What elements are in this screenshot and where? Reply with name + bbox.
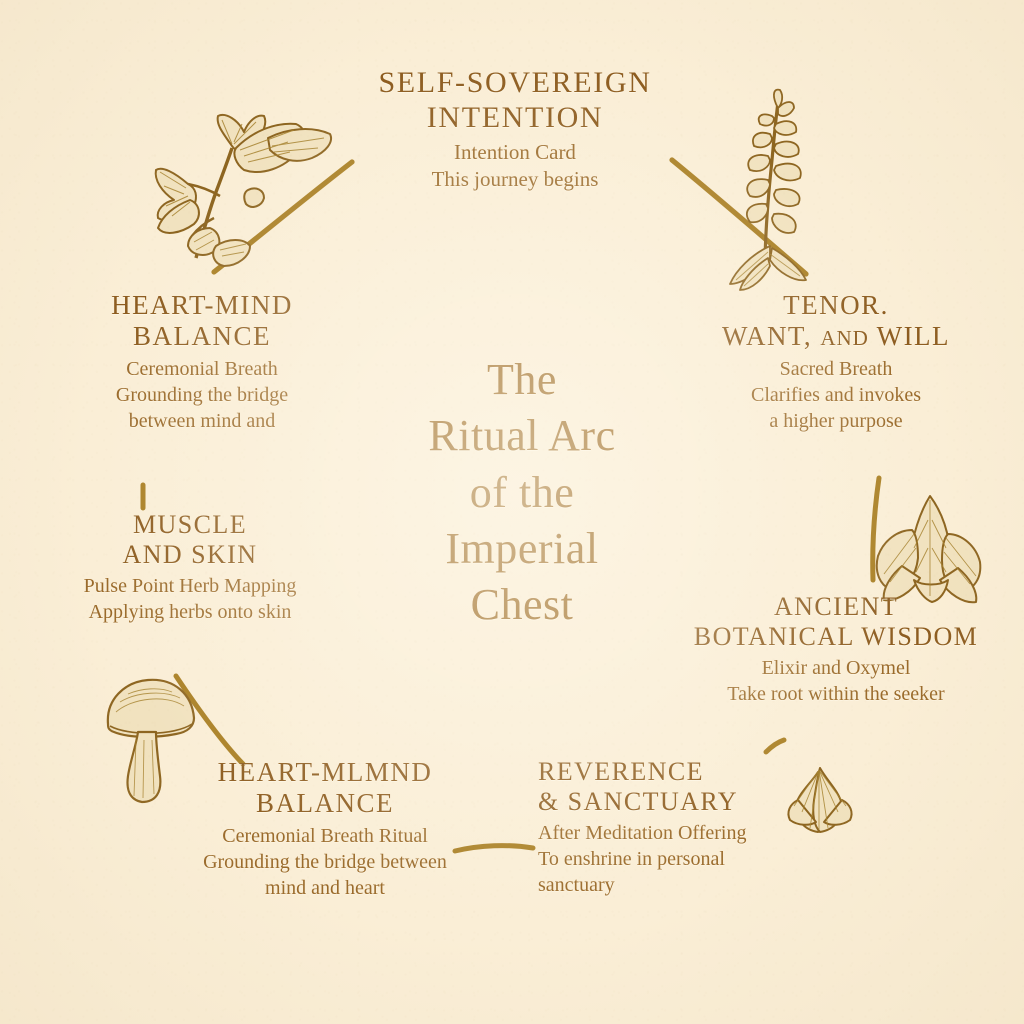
center-title-line-5: Chest [372,577,672,633]
ivy-sprig-illustration [156,115,331,266]
node-heading-line-1: HEART-MIND [28,290,376,321]
center-title-line-2: Ritual Arc [372,408,672,464]
node-subtitle-line-1: Ceremonial Breath Ritual [222,825,428,847]
node-subtitle: Intention Card This journey begins [335,139,695,194]
node-subtitle-line-1: After Meditation Offering [538,822,746,844]
arc-stroke-top-left [214,162,352,272]
node-subtitle-line-2: Grounding the bridge between [203,851,447,873]
center-title-line-3: of the [372,465,672,521]
node-subtitle-line-2: Clarifies and invokes [751,384,921,406]
node-heading-line-2: BALANCE [28,321,376,352]
node-subtitle-line-3: sanctuary [538,874,615,896]
arc-stroke-right [873,478,879,580]
node-subtitle-line-2: Take root within the seeker [727,683,944,705]
arc-stroke-bottom-left [176,676,243,764]
node-subtitle-line-2: This journey begins [432,167,599,191]
node-heading-line-2: INTENTION [335,101,695,136]
node-heading: MUSCLE AND SKIN [10,510,370,570]
node-heart-mlmnd-balance: HEART-MLMND BALANCE Ceremonial Breath Ri… [140,757,510,901]
node-subtitle-line-1: Pulse Point Herb Mapping [84,575,297,597]
node-muscle-and-skin: MUSCLE AND SKIN Pulse Point Herb Mapping… [10,510,370,625]
node-heading-line-2: & SANCTUARY [538,787,838,817]
node-heading: REVERENCE & SANCTUARY [538,757,838,817]
ritual-arc-poster: The Ritual Arc of the Imperial Chest SEL… [0,0,1024,1024]
node-heading-line-2: BALANCE [140,788,510,819]
node-heart-mind-balance: HEART-MIND BALANCE Ceremonial Breath Gro… [28,290,376,434]
node-subtitle-line-1: Ceremonial Breath [126,358,278,380]
node-heading: TENOR. WANT, AND WILL [660,290,1012,353]
node-tenor-want-and-will: TENOR. WANT, AND WILL Sacred Breath Clar… [660,290,1012,434]
node-heading-line-1: REVERENCE [538,757,838,787]
node-subtitle: Pulse Point Herb Mapping Applying herbs … [10,573,370,625]
node-subtitle-line-1: Sacred Breath [780,358,893,380]
node-heading: HEART-MIND BALANCE [28,290,376,353]
lavender-spike-illustration [730,90,806,290]
node-heading-line-1: HEART-MLMND [140,757,510,788]
node-heading-line-1: ANCIENT [650,592,1022,622]
node-subtitle-line-3: a higher purpose [769,410,902,432]
node-heading-line-1: SELF-SOVEREIGN [335,66,695,101]
node-heading-word-and: AND [820,326,868,350]
node-heading-line-1: TENOR. [660,290,1012,321]
node-subtitle: Sacred Breath Clarifies and invokes a hi… [660,356,1012,434]
node-subtitle: Ceremonial Breath Grounding the bridge b… [28,356,376,434]
center-title: The Ritual Arc of the Imperial Chest [372,352,672,634]
node-self-sovereign-intention: SELF-SOVEREIGN INTENTION Intention Card … [335,66,695,193]
node-heading-line-2: AND SKIN [10,540,370,570]
node-heading-line-2: BOTANICAL WISDOM [650,622,1022,652]
node-heading-word-will: WILL [877,321,950,351]
node-subtitle-line-2: Applying herbs onto skin [89,601,292,623]
node-subtitle-line-2: Grounding the bridge [116,384,288,406]
node-subtitle-line-1: Elixir and Oxymel [762,657,911,679]
node-ancient-botanical-wisdom: ANCIENT BOTANICAL WISDOM Elixir and Oxym… [650,592,1022,707]
node-heading: HEART-MLMND BALANCE [140,757,510,820]
node-heading-line-2: WANT, AND WILL [660,321,1012,352]
arc-stroke-bottom-right [766,740,784,752]
node-subtitle: After Meditation Offering To enshrine in… [538,820,838,898]
center-title-line-1: The [372,352,672,408]
node-subtitle: Ceremonial Breath Ritual Grounding the b… [140,823,510,901]
node-subtitle-line-3: between mind and [129,410,276,432]
node-subtitle: Elixir and Oxymel Take root within the s… [650,655,1022,707]
node-heading-line-1: MUSCLE [10,510,370,540]
node-subtitle-line-1: Intention Card [454,140,576,164]
center-title-line-4: Imperial [372,521,672,577]
node-subtitle-line-2: To enshrine in personal [538,848,725,870]
node-heading: SELF-SOVEREIGN INTENTION [335,66,695,136]
leaf-cluster-illustration [877,496,981,602]
node-heading: ANCIENT BOTANICAL WISDOM [650,592,1022,652]
node-reverence-and-sanctuary: REVERENCE & SANCTUARY After Meditation O… [538,757,838,898]
node-subtitle-line-3: mind and heart [265,877,385,899]
node-heading-word-want: WANT, [722,321,812,351]
